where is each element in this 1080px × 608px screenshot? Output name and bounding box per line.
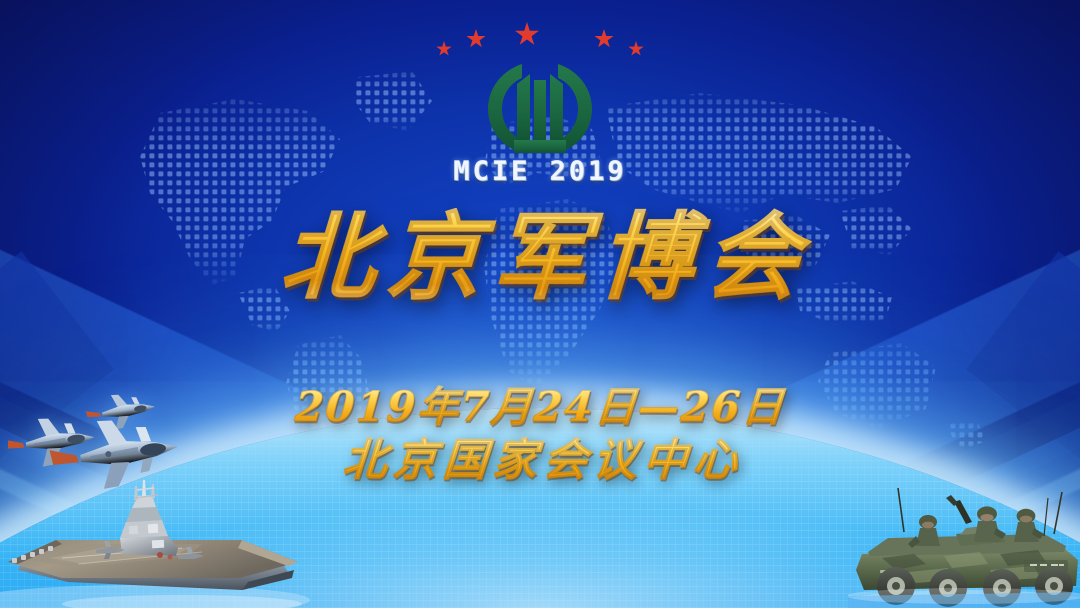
event-logo: MCIE 2019 [430,22,650,187]
event-venue: 北京国家会议中心 [0,435,1080,487]
star-icon [436,41,452,57]
event-date: 2019年7月24日—26日 [0,385,1080,431]
poster-subtitles: 2019年7月24日—26日 北京国家会议中心 [0,385,1080,487]
title-text: 北京军博会 [266,208,813,310]
star-icon [594,29,614,49]
event-poster: MCIE 2019 北京军博会 2019年7月24日—26日 北京国家会议中心 [0,0,1080,608]
armored-personnel-carrier [848,486,1080,608]
star-icon [466,29,486,49]
aircraft-carrier [0,478,322,608]
poster-title: 北京军博会 [0,208,1080,310]
mcie-emblem-icon [484,58,596,154]
five-stars-arc [430,22,650,56]
logo-wordmark: MCIE 2019 [430,156,650,187]
star-icon [628,41,644,57]
star-icon [515,22,540,47]
